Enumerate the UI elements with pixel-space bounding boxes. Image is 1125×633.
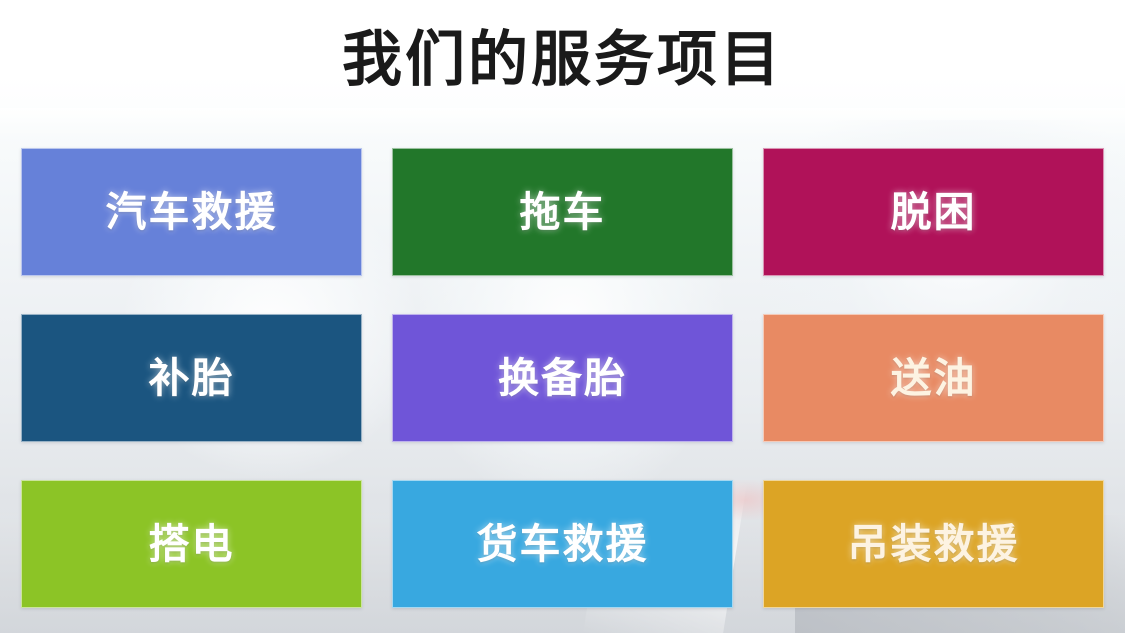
service-tile-label: 拖车 bbox=[520, 192, 606, 233]
service-tile-fuel-delivery[interactable]: 送油 bbox=[763, 314, 1104, 442]
service-tile-tire-repair[interactable]: 补胎 bbox=[21, 314, 362, 442]
service-tile-extraction[interactable]: 脱困 bbox=[763, 148, 1104, 276]
service-tile-label: 汽车救援 bbox=[106, 192, 278, 233]
service-tile-crane-rescue[interactable]: 吊装救援 bbox=[763, 480, 1104, 608]
service-tile-car-rescue[interactable]: 汽车救援 bbox=[21, 148, 362, 276]
service-tile-label: 换备胎 bbox=[498, 358, 627, 399]
service-tile-label: 吊装救援 bbox=[848, 524, 1020, 565]
service-tile-label: 送油 bbox=[891, 358, 977, 399]
service-tile-label: 补胎 bbox=[149, 358, 235, 399]
page-title: 我们的服务项目 bbox=[342, 30, 783, 90]
service-tile-label: 搭电 bbox=[149, 524, 235, 565]
service-tile-truck-rescue[interactable]: 货车救援 bbox=[392, 480, 733, 608]
service-tile-jump-start[interactable]: 搭电 bbox=[21, 480, 362, 608]
service-tile-spare-tire[interactable]: 换备胎 bbox=[392, 314, 733, 442]
service-tile-label: 脱困 bbox=[891, 192, 977, 233]
service-poster: 我们的服务项目 汽车救援 拖车 脱困 补胎 换备胎 送油 搭电 货车救援 吊装救… bbox=[0, 0, 1125, 633]
service-grid: 汽车救援 拖车 脱困 补胎 换备胎 送油 搭电 货车救援 吊装救援 bbox=[21, 148, 1104, 618]
service-tile-towing[interactable]: 拖车 bbox=[392, 148, 733, 276]
service-tile-label: 货车救援 bbox=[477, 524, 649, 565]
title-band: 我们的服务项目 bbox=[0, 0, 1125, 120]
